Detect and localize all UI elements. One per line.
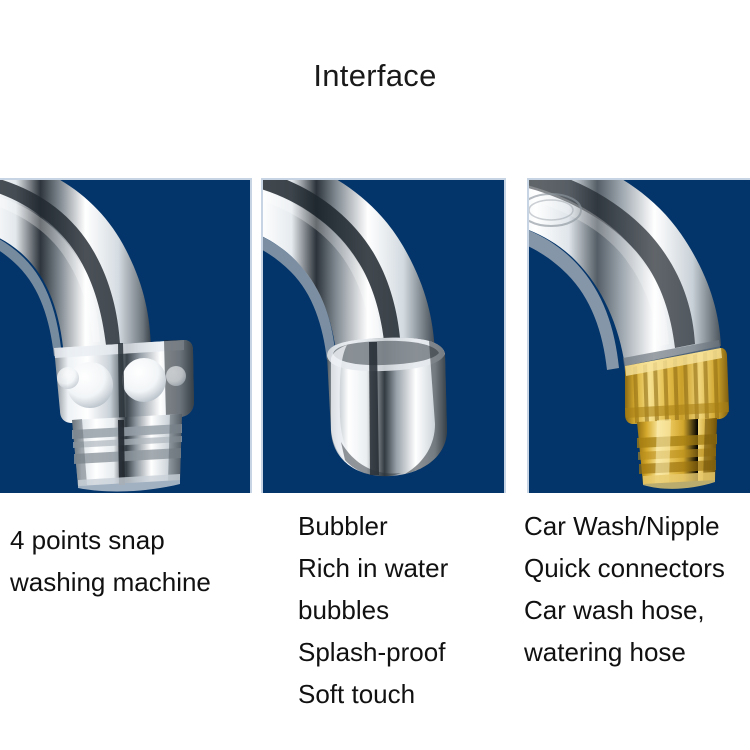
- product-image-row: [0, 178, 750, 493]
- page-title: Interface: [0, 58, 750, 94]
- caption-line: Rich in water: [298, 547, 513, 589]
- faucet-four-point-snap-image: [0, 180, 252, 493]
- caption-line: Soft touch: [298, 673, 513, 715]
- caption-column-1: 4 points snap washing machine: [10, 497, 255, 603]
- caption-line: washing machine: [10, 561, 255, 603]
- product-panel-1: [0, 178, 252, 493]
- caption-line: Bubbler: [298, 505, 513, 547]
- faucet-bubbler-image: [263, 180, 506, 493]
- product-panel-2: [261, 178, 506, 493]
- caption-column-2: Bubbler Rich in water bubbles Splash-pro…: [298, 497, 513, 715]
- caption-line: watering hose: [524, 631, 750, 673]
- snap-point-2: [122, 358, 166, 402]
- caption-line: Car wash hose,: [524, 589, 750, 631]
- product-interface-infographic: Interface: [0, 0, 750, 750]
- caption-line: Splash-proof: [298, 631, 513, 673]
- caption-line: 4 points snap: [10, 519, 255, 561]
- snap-point-3: [57, 367, 79, 389]
- caption-line: Car Wash/Nipple: [524, 505, 750, 547]
- product-panel-3: [527, 178, 750, 493]
- caption-column-3: Car Wash/Nipple Quick connectors Car was…: [524, 497, 750, 673]
- snap-point-4: [166, 366, 186, 386]
- caption-row: 4 points snap washing machine Bubbler Ri…: [0, 497, 750, 750]
- caption-line: bubbles: [298, 589, 513, 631]
- faucet-brass-nipple-image: [529, 180, 750, 493]
- caption-line: Quick connectors: [524, 547, 750, 589]
